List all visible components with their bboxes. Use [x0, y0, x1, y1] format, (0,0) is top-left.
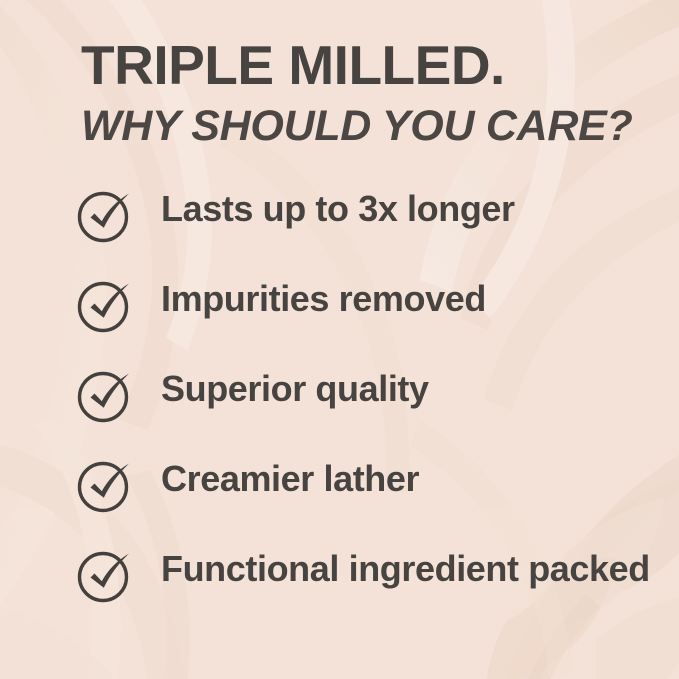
circled-checkmark-icon	[76, 546, 136, 604]
benefit-label: Lasts up to 3x longer	[161, 184, 666, 230]
benefit-label: Functional ingredient packed	[161, 544, 666, 590]
list-item: Creamier lather	[76, 454, 666, 544]
benefits-list: Lasts up to 3x longer Impurities removed…	[76, 184, 666, 634]
list-item: Impurities removed	[76, 274, 666, 364]
circled-checkmark-icon	[76, 456, 136, 514]
infographic-poster: TRIPLE MILLED. WHY SHOULD YOU CARE? Last…	[0, 0, 679, 679]
page-title: TRIPLE MILLED.	[81, 38, 641, 93]
list-item: Functional ingredient packed	[76, 544, 666, 634]
circled-checkmark-icon	[76, 366, 136, 424]
benefit-label: Creamier lather	[161, 454, 666, 500]
circled-checkmark-icon	[76, 186, 136, 244]
circled-checkmark-icon	[76, 276, 136, 334]
benefit-label: Impurities removed	[161, 274, 666, 320]
page-subtitle: WHY SHOULD YOU CARE?	[81, 104, 641, 149]
list-item: Superior quality	[76, 364, 666, 454]
poster-content: TRIPLE MILLED. WHY SHOULD YOU CARE? Last…	[0, 0, 679, 679]
benefit-label: Superior quality	[161, 364, 666, 410]
headline-block: TRIPLE MILLED. WHY SHOULD YOU CARE?	[81, 38, 641, 149]
list-item: Lasts up to 3x longer	[76, 184, 666, 274]
